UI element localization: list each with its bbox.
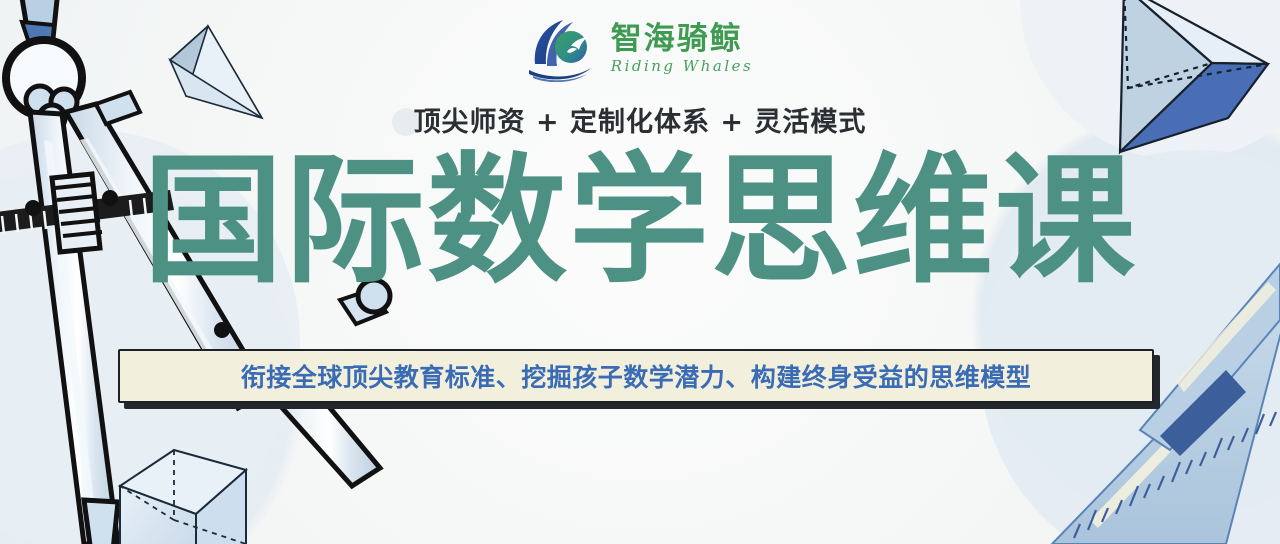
logo-brand-cn: 智海骑鲸 bbox=[611, 24, 753, 55]
cube-3d-icon bbox=[120, 450, 246, 544]
whale-wave-logo-icon bbox=[527, 16, 601, 82]
logo-brand-en: Riding Whales bbox=[611, 59, 753, 74]
page-title: 国际数学思维课 bbox=[0, 152, 1280, 292]
poster-canvas: 智海骑鲸 Riding Whales 顶尖师资 + 定制化体系 + 灵活模式 国… bbox=[0, 0, 1280, 544]
subtitle-text: 顶尖师资 + 定制化体系 + 灵活模式 bbox=[0, 100, 1280, 139]
tagline-text: 衔接全球顶尖教育标准、挖掘孩子数学潜力、构建终身受益的思维模型 bbox=[241, 358, 1032, 394]
brand-logo: 智海骑鲸 Riding Whales bbox=[0, 14, 1280, 84]
tagline-banner: 衔接全球顶尖教育标准、挖掘孩子数学潜力、构建终身受益的思维模型 bbox=[118, 349, 1154, 403]
